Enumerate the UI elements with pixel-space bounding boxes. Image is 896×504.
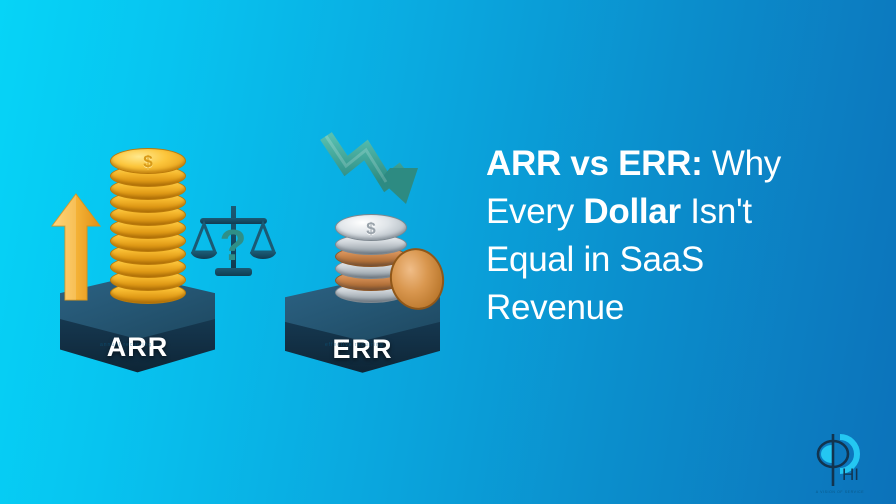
hero-illustration: ARR ERR (30, 120, 460, 380)
headline-seg: Equal in SaaS (486, 240, 704, 279)
question-mark-glyph: ? (220, 221, 247, 270)
phi-logo[interactable]: HI A VISION OF SERVICE (800, 428, 880, 496)
headline-line-1: ARR vs ERR: Why (486, 140, 856, 188)
err-pedestal-label: ERR (285, 334, 440, 365)
phi-logo-wordmark: HI (842, 465, 859, 484)
headline-seg: Dollar (583, 192, 680, 231)
err-micro-caption: effective recurring (325, 342, 384, 348)
headline-line-3: Equal in SaaS (486, 236, 856, 284)
phi-logo-tagline: A VISION OF SERVICE (800, 490, 880, 494)
headline-seg: Isn't (681, 192, 752, 231)
up-arrow-icon (50, 192, 102, 304)
headline: ARR vs ERR: Why Every Dollar Isn't Equal… (486, 140, 856, 332)
headline-seg: ARR vs ERR: (486, 144, 702, 183)
gold-coin-stack: $ (110, 142, 186, 302)
balance-scale-icon: ? (190, 198, 276, 284)
headline-line-4: Revenue (486, 284, 856, 332)
arr-micro-caption: annual recurring (100, 342, 152, 348)
headline-seg: Why (702, 144, 781, 183)
phi-logo-mark: HI (800, 428, 880, 496)
headline-seg: Every (486, 192, 583, 231)
headline-line-2: Every Dollar Isn't (486, 188, 856, 236)
headline-seg: Revenue (486, 288, 624, 327)
